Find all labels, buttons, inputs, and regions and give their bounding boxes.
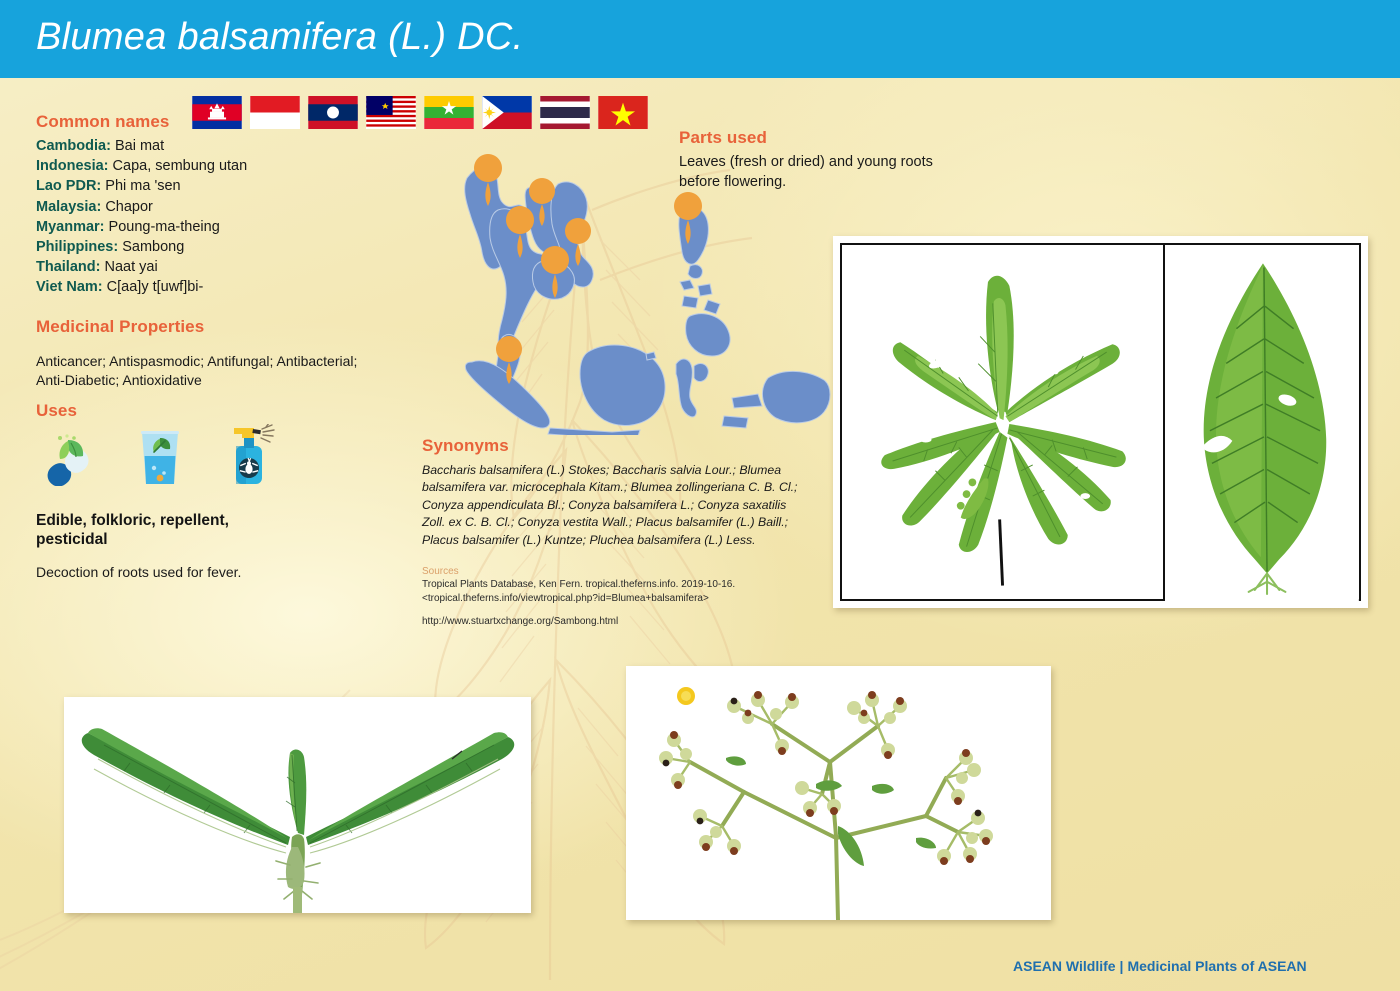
synonyms-body: Baccharis balsamifera (L.) Stokes; Bacch… <box>422 462 812 549</box>
young-shoot-photo <box>64 697 531 913</box>
country-label: Thailand: <box>36 259 100 275</box>
country-label: Lao PDR: <box>36 178 101 194</box>
list-item: Myanmar: Poung-ma-theing <box>36 217 366 237</box>
country-name-value: Naat yai <box>104 259 157 275</box>
uses-heading: Uses <box>36 401 77 421</box>
country-name-value: Capa, sembung utan <box>113 158 248 174</box>
parts-used-body: Leaves (fresh or dried) and young roots … <box>679 152 969 192</box>
header-bar: Blumea balsamifera (L.) DC. <box>0 0 1400 78</box>
flower-inflorescence-photo <box>626 666 1051 920</box>
parts-used-heading: Parts used <box>679 128 767 148</box>
page-title: Blumea balsamifera (L.) DC. <box>36 16 523 59</box>
country-name-value: Bai mat <box>115 138 164 154</box>
thailand-flag <box>540 96 590 129</box>
footer: ASEAN Wildlife|Medicinal Plants of ASEAN <box>1013 958 1307 974</box>
sources-link: http://www.stuartxchange.org/Sambong.htm… <box>422 616 618 627</box>
list-item: Indonesia: Capa, sembung utan <box>36 156 366 176</box>
malaysia-flag <box>366 96 416 129</box>
herbal-drink-glass-icon <box>134 428 186 486</box>
asean-flag-row <box>192 96 648 129</box>
list-item: Cambodia: Bai mat <box>36 136 366 156</box>
common-names-heading: Common names <box>36 112 169 132</box>
country-name-value: Sambong <box>122 239 184 255</box>
country-label: Myanmar: <box>36 219 105 235</box>
medicinal-properties-heading: Medicinal Properties <box>36 317 204 337</box>
leaf-rosette-and-single-leaf-photo <box>833 236 1368 608</box>
pesticide-spray-icon <box>220 424 282 486</box>
country-name-value: C[aa]y t[uwf]bi- <box>107 279 204 295</box>
indonesia-flag <box>250 96 300 129</box>
poster-root: Blumea balsamifera (L.) DC. <box>0 0 1400 991</box>
sources-heading: Sources <box>422 566 459 577</box>
country-label: Cambodia: <box>36 138 111 154</box>
leaf-rosette-panel <box>842 245 1165 599</box>
uses-note: Decoction of roots used for fever. <box>36 563 266 582</box>
country-name-value: Phi ma 'sen <box>105 178 180 194</box>
vietnam-flag <box>598 96 648 129</box>
country-label: Indonesia: <box>36 158 109 174</box>
list-item: Viet Nam: C[aa]y t[uwf]bi- <box>36 277 366 297</box>
myanmar-flag <box>424 96 474 129</box>
common-names-list: Cambodia: Bai mat Indonesia: Capa, sembu… <box>36 136 366 298</box>
laos-flag <box>308 96 358 129</box>
footer-separator: | <box>1116 958 1128 974</box>
country-label: Viet Nam: <box>36 279 103 295</box>
country-label: Philippines: <box>36 239 118 255</box>
philippines-flag <box>482 96 532 129</box>
single-leaf-panel <box>1165 245 1359 599</box>
footer-right: Medicinal Plants of ASEAN <box>1127 958 1306 974</box>
list-item: Philippines: Sambong <box>36 237 366 257</box>
synonyms-heading: Synonyms <box>422 436 509 456</box>
list-item: Malaysia: Chapor <box>36 197 366 217</box>
list-item: Thailand: Naat yai <box>36 257 366 277</box>
sources-line-1: Tropical Plants Database, Ken Fern. trop… <box>422 578 842 592</box>
sources-line-2: <tropical.theferns.info/viewtropical.php… <box>422 592 842 606</box>
medicinal-properties-body: Anticancer; Antispasmodic; Antifungal; A… <box>36 352 376 390</box>
cambodia-flag <box>192 96 242 129</box>
footer-left: ASEAN Wildlife <box>1013 958 1116 974</box>
uses-tagline: Edible, folkloric, repellent, pesticidal <box>36 511 296 549</box>
list-item: Lao PDR: Phi ma 'sen <box>36 176 366 196</box>
sources-body: Tropical Plants Database, Ken Fern. trop… <box>422 578 842 605</box>
country-name-value: Chapor <box>105 199 153 215</box>
herbal-capsule-icon <box>38 434 100 486</box>
country-label: Malaysia: <box>36 199 101 215</box>
country-name-value: Poung-ma-theing <box>109 219 220 235</box>
uses-icon-row <box>38 424 282 486</box>
